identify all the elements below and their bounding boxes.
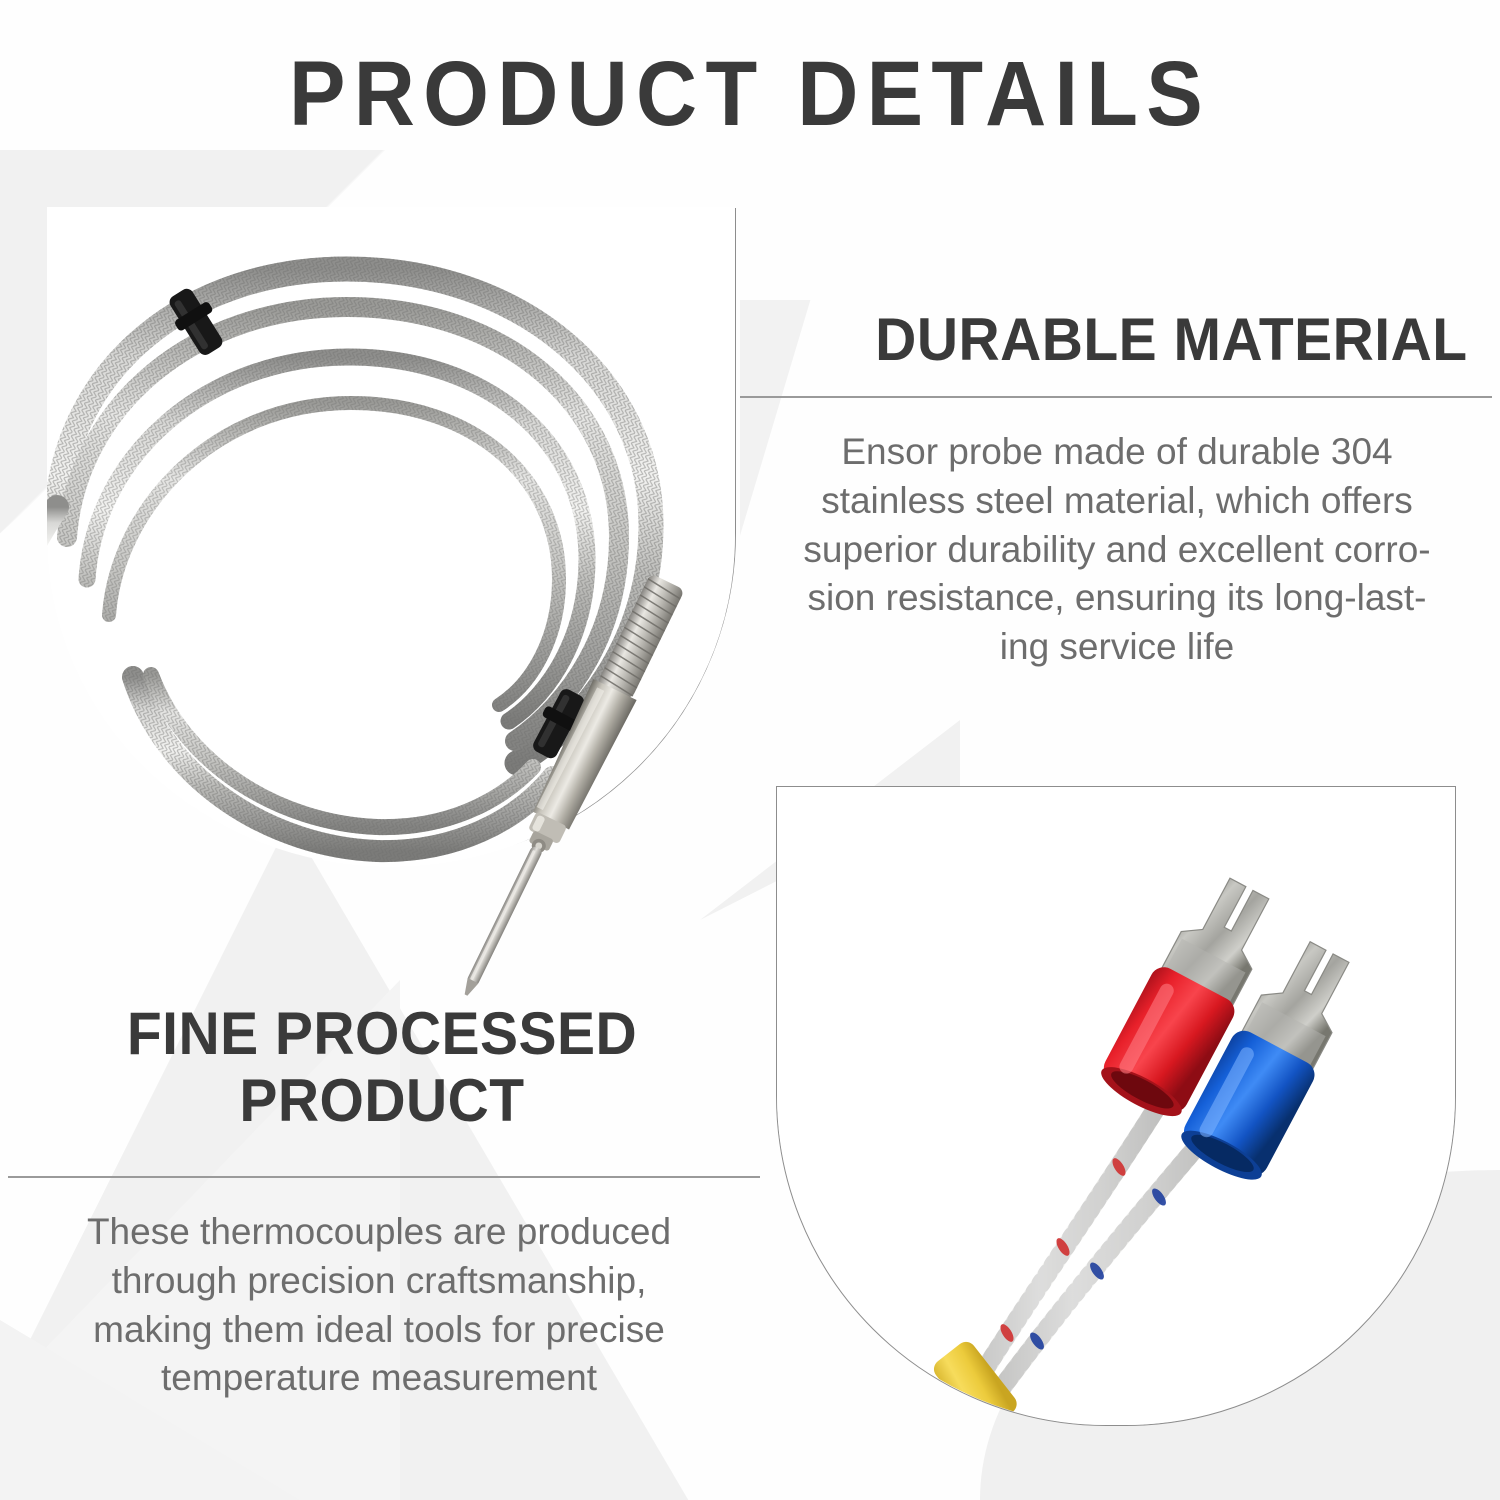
divider-durable-material [740,396,1492,398]
section-heading-durable-material: DURABLE MATERIAL [759,306,1473,373]
photo-panel-probe [48,208,736,863]
section-heading-fine-processed-product: FINE PROCESSED PRODUCT [25,1000,739,1134]
terminals-photo-artwork [777,787,1455,1425]
probe-photo-artwork [49,209,735,862]
section-body-fine-processed-product: These thermocouples are produced through… [14,1208,744,1403]
divider-fine-processed-product [8,1176,760,1178]
section-body-durable-material: Ensor probe made of durable 304 stainles… [752,428,1482,672]
page-title: PRODUCT DETAILS [60,48,1440,140]
product-details-infographic: PRODUCT DETAILS [0,0,1500,1500]
photo-panel-terminals [776,786,1456,1426]
probe-needle [461,845,544,998]
